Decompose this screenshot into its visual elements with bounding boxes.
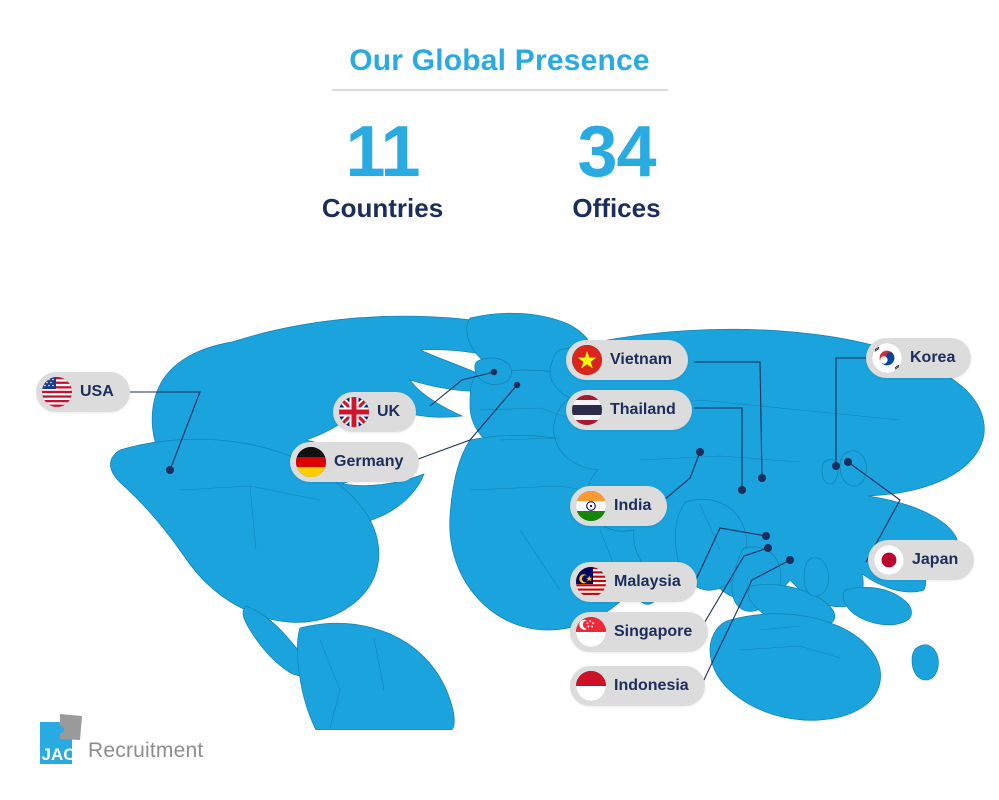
singapore-flag-icon	[576, 617, 606, 647]
header: Our Global Presence	[0, 44, 999, 91]
landmass-south-america	[297, 623, 454, 730]
landmass-korea	[822, 459, 838, 484]
marker-pill-singapore[interactable]: Singapore	[570, 612, 708, 652]
offices-value: 34	[552, 118, 682, 186]
germany-flag-icon	[296, 447, 326, 477]
countries-value: 11	[318, 118, 448, 186]
world-map-svg	[0, 290, 999, 730]
japan-flag-icon	[874, 545, 904, 575]
marker-pill-vietnam[interactable]: Vietnam	[566, 340, 688, 380]
marker-label-japan: Japan	[912, 552, 958, 568]
stats-row: 11 Countries 34 Offices	[0, 118, 999, 223]
landmass-new-zealand	[912, 645, 938, 680]
korea-flag-icon	[872, 343, 902, 373]
uk-flag-icon	[339, 397, 369, 427]
logo-gray-puzzle-piece	[60, 714, 82, 740]
landmass-australia	[710, 614, 881, 721]
title-divider	[332, 89, 668, 91]
landmass-philippines	[804, 558, 829, 597]
marker-label-singapore: Singapore	[614, 624, 692, 640]
landmass-new-guinea	[843, 587, 911, 625]
indonesia-flag-icon	[576, 671, 606, 701]
infographic-root: Our Global Presence 11 Countries 34 Offi…	[0, 0, 999, 800]
marker-pill-malaysia[interactable]: Malaysia	[570, 562, 697, 602]
marker-pill-korea[interactable]: Korea	[866, 338, 971, 378]
jac-puzzle-logo: JAC	[40, 712, 82, 764]
marker-pill-japan[interactable]: Japan	[868, 540, 974, 580]
marker-pill-indonesia[interactable]: Indonesia	[570, 666, 705, 706]
marker-label-vietnam: Vietnam	[610, 352, 672, 368]
marker-label-india: India	[614, 498, 651, 514]
marker-pill-germany[interactable]: Germany	[290, 442, 419, 482]
logo-letters: JAC	[42, 745, 76, 764]
marker-label-usa: USA	[80, 384, 114, 400]
landmass-japan	[840, 451, 866, 486]
malaysia-flag-icon	[576, 567, 606, 597]
marker-label-malaysia: Malaysia	[614, 574, 681, 590]
jac-recruitment-logo: JAC Recruitment	[40, 712, 203, 764]
india-flag-icon	[576, 491, 606, 521]
vietnam-flag-icon	[572, 345, 602, 375]
page-title: Our Global Presence	[0, 44, 999, 77]
thailand-flag-icon	[572, 395, 602, 425]
stat-offices: 34 Offices	[552, 118, 682, 223]
stat-countries: 11 Countries	[318, 118, 448, 223]
logo-wordmark: Recruitment	[88, 740, 203, 764]
marker-pill-india[interactable]: India	[570, 486, 667, 526]
marker-label-uk: UK	[377, 404, 400, 420]
world-map	[0, 290, 999, 730]
marker-label-korea: Korea	[910, 350, 955, 366]
marker-label-germany: Germany	[334, 454, 403, 470]
usa-flag-icon	[42, 377, 72, 407]
marker-pill-usa[interactable]: USA	[36, 372, 130, 412]
countries-label: Countries	[318, 194, 448, 223]
marker-pill-thailand[interactable]: Thailand	[566, 390, 692, 430]
marker-pill-uk[interactable]: UK	[333, 392, 416, 432]
marker-label-indonesia: Indonesia	[614, 678, 689, 694]
marker-label-thailand: Thailand	[610, 402, 676, 418]
offices-label: Offices	[552, 194, 682, 223]
